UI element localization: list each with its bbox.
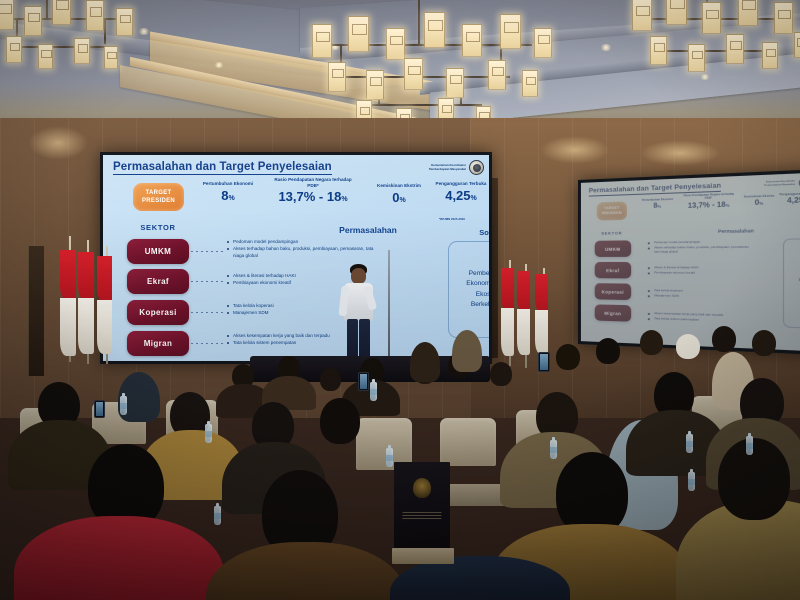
slide-main: Permasalahan dan Target Penyelesaian Kem… bbox=[103, 155, 489, 361]
solution-text: Pemberdayaan Ekonomi dengan Ekosistem Be… bbox=[455, 269, 489, 310]
issues-umkm: Pedoman model pendampingan Akses terhada… bbox=[227, 239, 377, 260]
bag-caption bbox=[402, 512, 441, 521]
audience-head bbox=[596, 338, 620, 364]
sector-pill-umkm-secondary[interactable]: UMKM bbox=[595, 240, 631, 257]
issue-item: Akses terhadap bahan baku, produksi, pem… bbox=[227, 246, 377, 260]
conference-room-photo: Permasalahan dan Target Penyelesaian Kem… bbox=[0, 0, 800, 600]
column-header-sektor-secondary: SEKTOR bbox=[593, 230, 631, 236]
secondary-presentation-screen: Permasalahan dan Target Penyelesaian Kem… bbox=[578, 169, 800, 355]
ministry-logo-secondary: Kementerian Koordinator Pemberdayaan Mas… bbox=[759, 177, 800, 189]
logo-line-2: Pemberdayaan Masyarakat bbox=[414, 168, 466, 172]
event-goodie-bag bbox=[394, 462, 450, 550]
kpi-rasio-pendapatan: Rasio Pendapatan Negara terhadap PDB* 13… bbox=[268, 177, 358, 204]
kpi-label: Pertumbuhan Ekonomi bbox=[197, 181, 259, 187]
kpi-kemiskinan-ekstrim: Kemiskinan Ekstrim 0% bbox=[375, 183, 423, 205]
column-header-solusi: Solusi bbox=[443, 228, 489, 237]
ministry-logo: Kementerian Koordinator Pemberdayaan Mas… bbox=[414, 160, 484, 175]
sector-pill-koperasi-secondary[interactable]: Koperasi bbox=[595, 283, 631, 300]
column-header-permasalahan-secondary: Permasalahan bbox=[693, 228, 780, 235]
audience-head bbox=[640, 330, 663, 355]
solution-box: Pemberdayaan Ekonomi dengan Ekosistem Be… bbox=[448, 241, 489, 338]
kpi-label: Pengangguran Terbuka bbox=[433, 181, 489, 187]
kpi-secondary: Kemiskinan Ekstrim 0% bbox=[743, 194, 776, 208]
issue-item: Pembiayaan ekonomi kreatif bbox=[648, 270, 755, 275]
target-badge-line-2: PRESIDEN bbox=[602, 211, 622, 216]
audience-shoulders-foreground bbox=[206, 542, 406, 600]
issue-item: Akses terhadap bahan baku, produksi, pem… bbox=[648, 244, 755, 254]
wall-light-glow bbox=[640, 140, 720, 166]
water-bottle bbox=[550, 440, 557, 459]
audience-head bbox=[320, 368, 341, 391]
target-presiden-badge: TARGET PRESIDEN bbox=[133, 183, 184, 211]
audience-head bbox=[752, 330, 776, 356]
water-bottle bbox=[746, 436, 753, 455]
main-presentation-screen: Permasalahan dan Target Penyelesaian Kem… bbox=[100, 152, 492, 364]
connector-dots bbox=[191, 281, 225, 282]
kpi-secondary: Rasio Pendapatan Negara terhadap PDB* 13… bbox=[680, 192, 738, 210]
sector-pill-ekraf[interactable]: Ekraf bbox=[127, 269, 189, 294]
audience-hijab bbox=[410, 342, 440, 382]
connector-dots bbox=[191, 251, 225, 252]
garuda-emblem-icon bbox=[413, 478, 431, 498]
kpi-label: Rasio Pendapatan Negara terhadap PDB* bbox=[268, 177, 358, 188]
sector-pill-ekraf-secondary[interactable]: Ekraf bbox=[595, 262, 631, 278]
garuda-seal-icon bbox=[469, 160, 484, 175]
indonesian-flag bbox=[516, 264, 534, 374]
water-bottle bbox=[386, 448, 393, 467]
smartphone[interactable] bbox=[358, 372, 369, 391]
audience-head bbox=[490, 362, 512, 386]
audience-hijab bbox=[452, 330, 482, 372]
connector-dots bbox=[191, 312, 225, 313]
solution-text: Pemberdayaan Ekonomi dengan Ekosistem Be… bbox=[791, 269, 800, 298]
slide-title: Permasalahan dan Target Penyelesaian bbox=[113, 161, 332, 175]
water-bottle bbox=[120, 396, 127, 415]
water-bottle bbox=[370, 382, 377, 401]
smartphone[interactable] bbox=[538, 352, 550, 372]
slide-secondary: Permasalahan dan Target Penyelesaian Kem… bbox=[581, 173, 800, 352]
target-badge-line-2: PRESIDEN bbox=[142, 197, 175, 205]
column-header-sektor: SEKTOR bbox=[125, 223, 191, 232]
issues-koperasi-secondary: Tata kelola koperasi Manajemen SDM bbox=[648, 288, 755, 299]
sector-pill-migran[interactable]: Migran bbox=[127, 331, 189, 356]
indonesian-flag bbox=[76, 240, 98, 370]
paper-document bbox=[392, 548, 454, 564]
chandelier-right bbox=[636, 0, 800, 116]
chandelier-left bbox=[0, 0, 160, 110]
kpi-footnote: *RPJMN 2025-2029 bbox=[439, 217, 465, 221]
connector-dots bbox=[191, 343, 225, 344]
logo-line-2: Pemberdayaan Masyarakat bbox=[759, 183, 795, 187]
presenter bbox=[336, 264, 382, 368]
kpi-value: 0% bbox=[375, 190, 423, 205]
kpi-pertumbuhan-ekonomi: Pertumbuhan Ekonomi 8% bbox=[197, 181, 259, 203]
column-header-permasalahan: Permasalahan bbox=[303, 225, 433, 235]
wall-light-glow bbox=[28, 126, 88, 160]
smartphone[interactable] bbox=[94, 400, 105, 418]
water-bottle bbox=[688, 472, 695, 491]
target-badge-line-1: TARGET bbox=[145, 189, 171, 197]
water-bottle bbox=[214, 506, 221, 525]
sector-pill-koperasi[interactable]: Koperasi bbox=[127, 300, 189, 325]
water-bottle bbox=[205, 424, 212, 443]
wall-light-glow bbox=[540, 136, 610, 164]
column-header-solusi-secondary: Solusi bbox=[783, 229, 800, 236]
issues-umkm-secondary: Pedoman model pendampingan Akses terhada… bbox=[648, 239, 755, 254]
door-recess bbox=[28, 246, 44, 376]
kpi-secondary: Pengangguran Terbuka 4,25% bbox=[778, 192, 800, 206]
issue-item: Pedoman model pendampingan bbox=[227, 239, 377, 246]
issues-migran-secondary: Akses kesempatan kerja yang baik dan ter… bbox=[648, 311, 755, 324]
kpi-value: 13,7% - 18% bbox=[268, 189, 358, 204]
kpi-value: 4,25% bbox=[433, 188, 489, 203]
target-presiden-badge-secondary: TARGET PRESIDEN bbox=[597, 201, 627, 220]
indonesian-flag bbox=[96, 246, 116, 370]
audience-head-foreground bbox=[718, 438, 790, 520]
sector-pill-migran-secondary[interactable]: Migran bbox=[595, 304, 631, 321]
audience-head bbox=[320, 398, 360, 444]
issues-ekraf-secondary: Akses & literasi terhadap HAKI Pembiayaa… bbox=[648, 265, 755, 275]
kpi-value: 8% bbox=[197, 188, 259, 203]
chair bbox=[440, 418, 496, 466]
kpi-label: Kemiskinan Ekstrim bbox=[375, 183, 423, 189]
audience-head bbox=[712, 326, 736, 352]
kpi-secondary: Pertumbuhan Ekonomi 8% bbox=[637, 198, 677, 211]
sector-pill-umkm[interactable]: UMKM bbox=[127, 239, 189, 264]
microphone-stand bbox=[388, 250, 390, 368]
water-bottle bbox=[686, 434, 693, 453]
solution-box-secondary: Pemberdayaan Ekonomi dengan Ekosistem Be… bbox=[783, 238, 800, 330]
audience-head bbox=[676, 334, 700, 359]
audience-shoulders-foreground bbox=[14, 516, 224, 600]
kpi-pengangguran-terbuka: Pengangguran Terbuka 4,25% bbox=[433, 181, 489, 203]
audience-head bbox=[556, 344, 580, 370]
issue-item: Manajemen SDM bbox=[648, 293, 755, 300]
